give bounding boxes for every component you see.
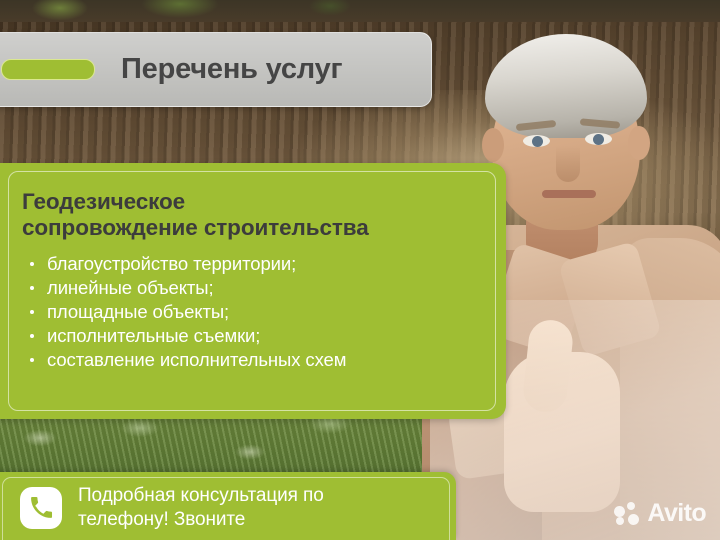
service-card-content: Геодезическое сопровождение строительств… (22, 189, 482, 372)
list-item: благоустройство территории; (22, 252, 482, 276)
call-to-action-content: Подробная консультация по телефону! Звон… (20, 484, 408, 532)
service-list: благоустройство территории; линейные объ… (22, 252, 482, 372)
person-hair (485, 34, 647, 138)
bullet-dot-icon (30, 286, 34, 290)
list-item: площадные объекты; (22, 300, 482, 324)
person-iris-left (532, 136, 543, 147)
person-ear-left (482, 128, 504, 162)
list-item-label: линейные объекты; (47, 277, 214, 298)
service-heading: Геодезическое сопровождение строительств… (22, 189, 482, 241)
person-nose (556, 146, 580, 182)
accent-pill (1, 59, 95, 80)
avito-wordmark: Avito (647, 499, 706, 528)
person-iris-right (593, 134, 604, 145)
list-item-label: площадные объекты; (47, 301, 229, 322)
bullet-dot-icon (30, 310, 34, 314)
service-heading-line-1: Геодезическое (22, 189, 185, 214)
service-card: Геодезическое сопровождение строительств… (0, 163, 506, 419)
bullet-dot-icon (30, 262, 34, 266)
bullet-dot-icon (30, 334, 34, 338)
header-banner: Перечень услуг (0, 32, 432, 107)
list-item-label: исполнительные съемки; (47, 325, 260, 346)
phone-icon[interactable] (20, 487, 62, 529)
person-mouth (542, 190, 596, 198)
list-item-label: благоустройство территории; (47, 253, 296, 274)
person-ear-right (628, 126, 650, 160)
service-heading-line-2: сопровождение строительства (22, 215, 369, 240)
bullet-dot-icon (30, 358, 34, 362)
list-item: составление исполнительных схем (22, 348, 482, 372)
page-title: Перечень услуг (121, 53, 342, 86)
advertisement-banner: Перечень услуг Геодезическое сопровожден… (0, 0, 720, 540)
cta-text-line-1: Подробная консультация по (78, 485, 324, 506)
avito-logo-icon (614, 502, 640, 526)
call-to-action-text: Подробная консультация по телефону! Звон… (78, 484, 408, 532)
cta-text-line-2: телефону! Звоните (78, 509, 245, 530)
avito-watermark: Avito (614, 499, 706, 528)
call-to-action-bar[interactable]: Подробная консультация по телефону! Звон… (0, 472, 456, 540)
list-item: исполнительные съемки; (22, 324, 482, 348)
list-item-label: составление исполнительных схем (47, 349, 346, 370)
list-item: линейные объекты; (22, 276, 482, 300)
